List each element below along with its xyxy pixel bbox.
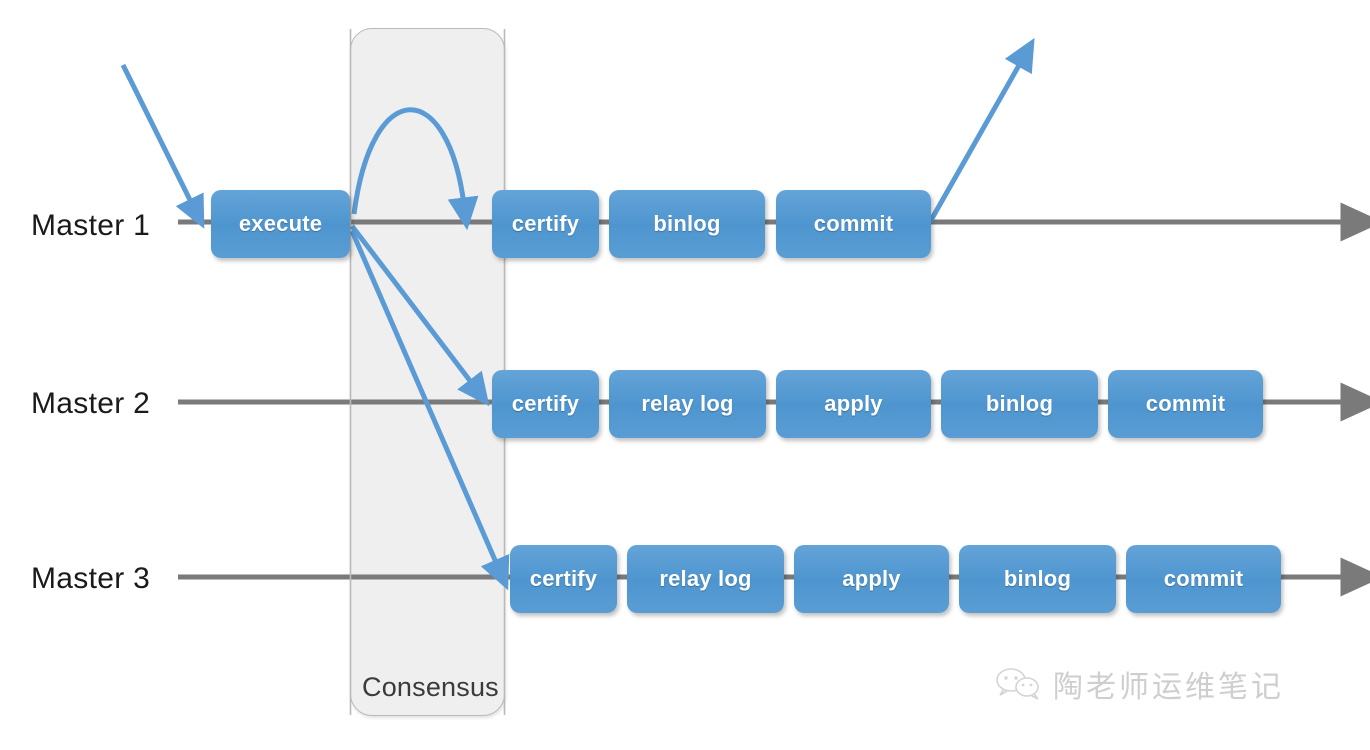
consensus-label: Consensus xyxy=(362,672,499,703)
stage-box-master2-binlog[interactable]: binlog xyxy=(941,370,1098,438)
stage-box-master1-execute[interactable]: execute xyxy=(211,190,350,258)
stage-box-master2-certify[interactable]: certify xyxy=(492,370,599,438)
watermark-text: 陶老师运维笔记 xyxy=(1053,662,1284,706)
stage-box-master2-commit[interactable]: commit xyxy=(1108,370,1263,438)
stage-box-master1-binlog[interactable]: binlog xyxy=(609,190,765,258)
wechat-icon xyxy=(995,667,1041,701)
stage-box-master2-relay-log[interactable]: relay log xyxy=(609,370,766,438)
commit-response-arrow xyxy=(930,60,1022,222)
stage-box-master3-relay-log[interactable]: relay log xyxy=(627,545,784,613)
stage-box-master1-certify[interactable]: certify xyxy=(492,190,599,258)
stage-box-master3-apply[interactable]: apply xyxy=(794,545,949,613)
stage-box-master1-commit[interactable]: commit xyxy=(776,190,931,258)
row-label-master-1: Master 1 xyxy=(31,209,150,243)
stage-box-master3-certify[interactable]: certify xyxy=(510,545,617,613)
row-label-master-3: Master 3 xyxy=(31,562,150,596)
row-label-master-2: Master 2 xyxy=(31,387,150,421)
stage-box-master3-binlog[interactable]: binlog xyxy=(959,545,1116,613)
incoming-request-arrow xyxy=(123,65,193,206)
diagram-canvas: Master 1 Master 2 Master 3 execute certi… xyxy=(0,0,1370,750)
watermark: 陶老师运维笔记 xyxy=(995,662,1284,706)
stage-box-master2-apply[interactable]: apply xyxy=(776,370,931,438)
consensus-band xyxy=(350,28,505,716)
stage-box-master3-commit[interactable]: commit xyxy=(1126,545,1281,613)
